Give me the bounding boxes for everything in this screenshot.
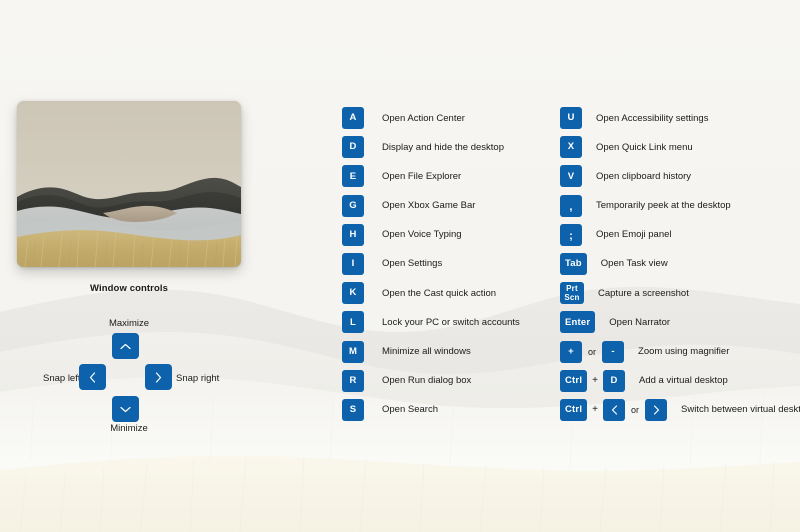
shortcut-description: Open Task view — [601, 258, 668, 269]
chevron-left-icon — [89, 372, 96, 383]
shortcut-row: TabOpen Task view — [560, 253, 800, 275]
shortcut-keys: R — [342, 370, 364, 392]
shortcut-keys: Enter — [560, 311, 595, 333]
shortcut-description: Minimize all windows — [382, 346, 471, 357]
shortcut-row: XOpen Quick Link menu — [560, 136, 800, 158]
shortcut-keys: K — [342, 282, 364, 304]
shortcut-description: Temporarily peek at the desktop — [596, 200, 731, 211]
shortcut-keys: M — [342, 341, 364, 363]
key-tile-u[interactable]: U — [560, 107, 582, 129]
shortcut-row: KOpen the Cast quick action — [342, 282, 520, 304]
window-controls-diagram: Window controls Maximize Minimize Snap l… — [17, 283, 241, 438]
shortcut-description: Open Run dialog box — [382, 375, 471, 386]
shortcut-keys: H — [342, 224, 364, 246]
key-tile-e[interactable]: E — [342, 165, 364, 187]
snap-left-button[interactable] — [79, 364, 106, 390]
shortcut-keys: ; — [560, 224, 582, 246]
shortcut-description: Open Narrator — [609, 317, 670, 328]
key-separator-plus: + — [587, 399, 603, 421]
chevron-up-icon — [120, 343, 131, 350]
shortcut-row: HOpen Voice Typing — [342, 224, 520, 246]
key-tile-k[interactable]: K — [342, 282, 364, 304]
chevron-down-icon — [120, 406, 131, 413]
key-tile-l[interactable]: L — [342, 311, 364, 333]
key-tile-v[interactable]: V — [560, 165, 582, 187]
key-tile-g[interactable]: G — [342, 195, 364, 217]
shortcut-keys: D — [342, 136, 364, 158]
minimize-label: Minimize — [17, 423, 241, 434]
shortcut-row: AOpen Action Center — [342, 107, 520, 129]
shortcut-keys: S — [342, 399, 364, 421]
key-tile-[interactable]: ; — [560, 224, 582, 246]
shortcut-row: PrtScnCapture a screenshot — [560, 282, 800, 304]
shortcut-row: EOpen File Explorer — [342, 165, 520, 187]
key-tile-line: Scn — [564, 294, 579, 302]
shortcut-description: Open the Cast quick action — [382, 288, 496, 299]
shortcut-row: UOpen Accessibility settings — [560, 107, 800, 129]
shortcut-row: Ctrl+orSwitch between virtual desktops — [560, 399, 800, 421]
shortcut-description: Open Accessibility settings — [596, 113, 708, 124]
key-tile-d[interactable]: D — [342, 136, 364, 158]
shortcut-keys: +or- — [560, 341, 624, 363]
shortcut-description: Open Xbox Game Bar — [382, 200, 475, 211]
shortcut-description: Switch between virtual desktops — [681, 404, 800, 415]
shortcut-row: ;Open Emoji panel — [560, 224, 800, 246]
shortcut-description: Lock your PC or switch accounts — [382, 317, 520, 328]
key-tile-enter[interactable]: Enter — [560, 311, 595, 333]
key-tile-prt-scn[interactable]: PrtScn — [560, 282, 584, 304]
key-tile-chevron-left-icon[interactable] — [603, 399, 625, 421]
shortcut-description: Open Voice Typing — [382, 229, 462, 240]
key-tile-[interactable]: , — [560, 195, 582, 217]
maximize-label: Maximize — [17, 318, 241, 329]
snap-right-button[interactable] — [145, 364, 172, 390]
key-tile-h[interactable]: H — [342, 224, 364, 246]
key-tile-[interactable]: - — [602, 341, 624, 363]
shortcut-description: Open Action Center — [382, 113, 465, 124]
shortcut-description: Open Quick Link menu — [596, 142, 693, 153]
shortcut-keys: E — [342, 165, 364, 187]
shortcut-keys: V — [560, 165, 582, 187]
shortcut-row: Ctrl+DAdd a virtual desktop — [560, 370, 800, 392]
shortcut-list-left: AOpen Action CenterDDisplay and hide the… — [342, 107, 520, 428]
shortcut-description: Open File Explorer — [382, 171, 461, 182]
shortcut-keys: PrtScn — [560, 282, 584, 304]
shortcut-list-right: UOpen Accessibility settingsXOpen Quick … — [560, 107, 800, 428]
shortcut-row: DDisplay and hide the desktop — [342, 136, 520, 158]
key-tile-[interactable]: + — [560, 341, 582, 363]
shortcut-row: MMinimize all windows — [342, 341, 520, 363]
key-tile-a[interactable]: A — [342, 107, 364, 129]
shortcut-row: LLock your PC or switch accounts — [342, 311, 520, 333]
window-controls-title: Window controls — [17, 283, 241, 294]
key-tile-ctrl[interactable]: Ctrl — [560, 399, 587, 421]
shortcut-row: ,Temporarily peek at the desktop — [560, 195, 800, 217]
key-tile-m[interactable]: M — [342, 341, 364, 363]
shortcut-keys: Ctrl+or — [560, 399, 667, 421]
shortcut-keys: , — [560, 195, 582, 217]
key-tile-s[interactable]: S — [342, 399, 364, 421]
shortcut-description: Add a virtual desktop — [639, 375, 728, 386]
shortcut-keys: Ctrl+D — [560, 370, 625, 392]
shortcut-keys: X — [560, 136, 582, 158]
shortcut-description: Display and hide the desktop — [382, 142, 504, 153]
wallpaper-thumbnail — [17, 101, 241, 267]
snap-left-label: Snap left — [43, 373, 81, 384]
shortcut-row: +or-Zoom using magnifier — [560, 341, 800, 363]
shortcut-keys: G — [342, 195, 364, 217]
key-separator-or: or — [625, 399, 645, 421]
shortcut-row: EnterOpen Narrator — [560, 311, 800, 333]
key-tile-d[interactable]: D — [603, 370, 625, 392]
key-tile-tab[interactable]: Tab — [560, 253, 587, 275]
shortcut-keys: I — [342, 253, 364, 275]
shortcut-keys: A — [342, 107, 364, 129]
chevron-left-icon — [610, 404, 619, 416]
shortcut-keys: L — [342, 311, 364, 333]
key-tile-i[interactable]: I — [342, 253, 364, 275]
shortcut-description: Open Search — [382, 404, 438, 415]
shortcut-row: ROpen Run dialog box — [342, 370, 520, 392]
shortcut-description: Open clipboard history — [596, 171, 691, 182]
key-tile-line: Prt — [566, 285, 578, 293]
key-tile-ctrl[interactable]: Ctrl — [560, 370, 587, 392]
key-tile-chevron-right-icon[interactable] — [645, 399, 667, 421]
key-separator-or: or — [582, 341, 602, 363]
shortcut-keys: Tab — [560, 253, 587, 275]
minimize-button[interactable] — [112, 396, 139, 422]
shortcut-description: Open Emoji panel — [596, 229, 672, 240]
shortcut-description: Zoom using magnifier — [638, 346, 729, 357]
wallpaper-image — [17, 101, 241, 267]
shortcut-description: Capture a screenshot — [598, 288, 689, 299]
chevron-right-icon — [155, 372, 162, 383]
key-separator-plus: + — [587, 370, 603, 392]
key-tile-x[interactable]: X — [560, 136, 582, 158]
chevron-right-icon — [652, 404, 661, 416]
shortcut-keys: U — [560, 107, 582, 129]
shortcut-description: Open Settings — [382, 258, 442, 269]
shortcut-row: VOpen clipboard history — [560, 165, 800, 187]
shortcut-row: GOpen Xbox Game Bar — [342, 195, 520, 217]
maximize-button[interactable] — [112, 333, 139, 359]
snap-right-label: Snap right — [176, 373, 219, 384]
key-tile-r[interactable]: R — [342, 370, 364, 392]
shortcut-row: IOpen Settings — [342, 253, 520, 275]
shortcut-row: SOpen Search — [342, 399, 520, 421]
